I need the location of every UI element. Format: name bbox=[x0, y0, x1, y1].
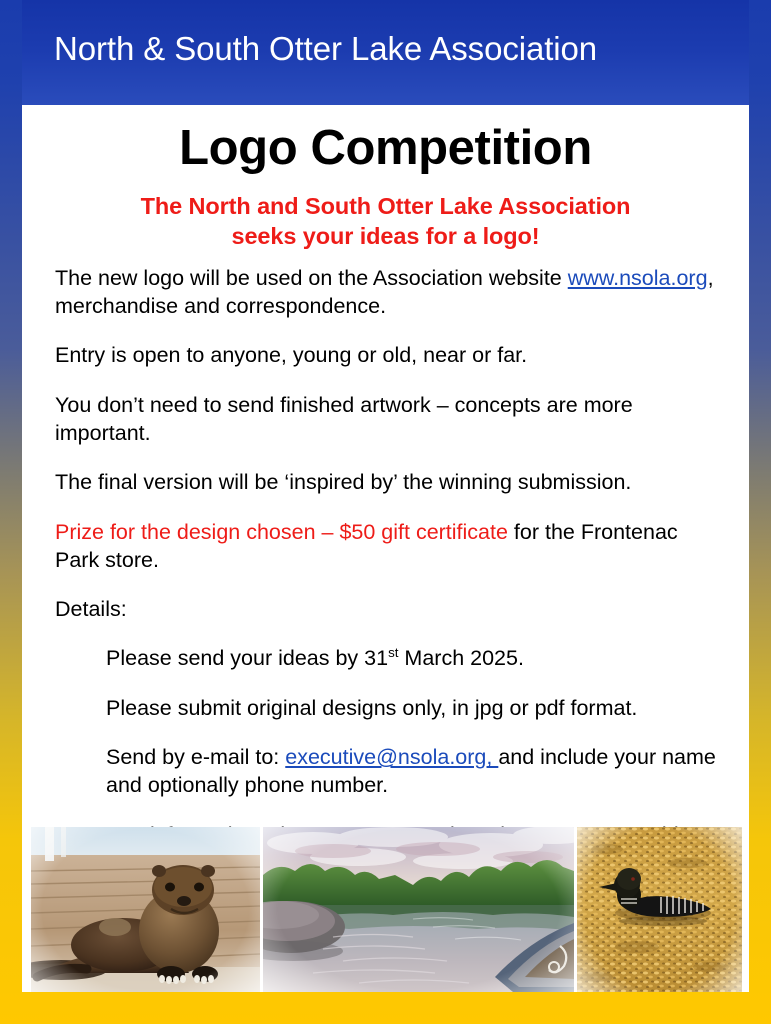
loon-on-golden-water-photo bbox=[577, 827, 742, 992]
detail-email: Send by e-mail to: executive@nsola.org, … bbox=[106, 744, 723, 800]
poster: North & South Otter Lake Association Log… bbox=[0, 0, 771, 1024]
email-link[interactable]: executive@nsola.org, bbox=[285, 745, 498, 769]
paragraph-concepts: You don’t need to send finished artwork … bbox=[55, 392, 723, 448]
deadline-post-text: March 2025. bbox=[398, 646, 523, 670]
content-card: Logo Competition The North and South Ott… bbox=[22, 105, 749, 992]
detail-deadline: Please send your ideas by 31st March 202… bbox=[106, 645, 723, 673]
subtitle-line-2: seeks your ideas for a logo! bbox=[231, 223, 539, 249]
prize-highlight-text: Prize for the design chosen – $50 gift c… bbox=[55, 520, 508, 544]
header-band: North & South Otter Lake Association bbox=[22, 0, 749, 105]
organization-title: North & South Otter Lake Association bbox=[54, 30, 597, 68]
loon-illustration bbox=[577, 827, 742, 992]
body-copy: The new logo will be used on the Associa… bbox=[55, 265, 723, 878]
lake-with-canoe-photo bbox=[263, 827, 574, 992]
paragraph-website: The new logo will be used on the Associa… bbox=[55, 265, 723, 321]
email-pre-text: Send by e-mail to: bbox=[106, 745, 285, 769]
photo-strip bbox=[22, 827, 749, 992]
website-intro-text: The new logo will be used on the Associa… bbox=[55, 266, 568, 290]
website-link[interactable]: www.nsola.org bbox=[568, 266, 708, 290]
river-otter-on-dock-photo bbox=[31, 827, 260, 992]
deadline-ordinal-suffix: st bbox=[388, 645, 398, 660]
subtitle-line-1: The North and South Otter Lake Associati… bbox=[141, 193, 631, 219]
details-label: Details: bbox=[55, 596, 723, 624]
lake-illustration bbox=[263, 827, 574, 992]
subtitle: The North and South Otter Lake Associati… bbox=[44, 191, 727, 252]
deadline-pre-text: Please send your ideas by 31 bbox=[106, 646, 388, 670]
page-title: Logo Competition bbox=[22, 122, 749, 175]
paragraph-prize: Prize for the design chosen – $50 gift c… bbox=[55, 519, 723, 575]
paragraph-entry-open: Entry is open to anyone, young or old, n… bbox=[55, 342, 723, 370]
otter-illustration bbox=[31, 827, 260, 992]
detail-formats: Please submit original designs only, in … bbox=[106, 695, 723, 723]
paragraph-final-version: The final version will be ‘inspired by’ … bbox=[55, 469, 723, 497]
